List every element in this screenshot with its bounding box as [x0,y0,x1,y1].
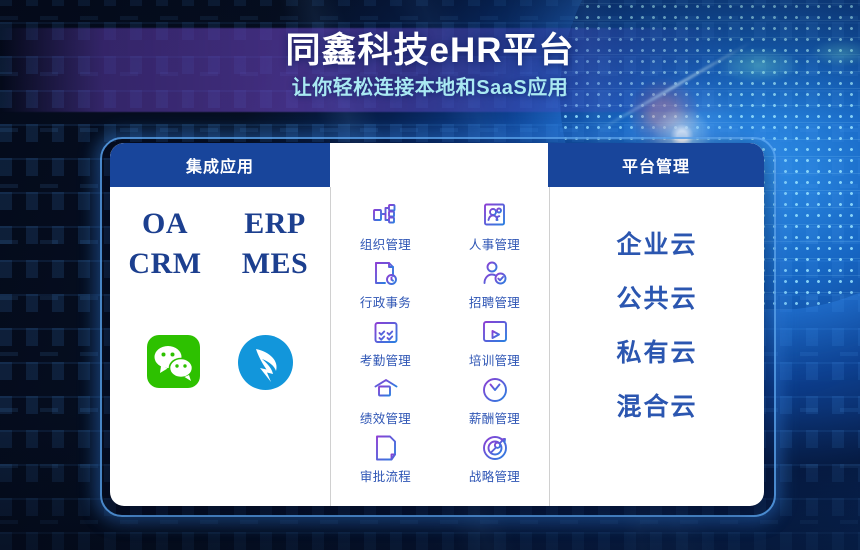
module-label: 战略管理 [469,466,520,485]
app-icon-row [110,335,330,390]
app-item-erp[interactable]: ERP [220,207,330,241]
module-label: 人事管理 [469,234,520,253]
module-recruitment-management[interactable]: 招聘管理 [440,259,549,311]
app-item-crm[interactable]: CRM [110,247,220,281]
approval-document-icon [371,433,401,463]
tab-platform-management[interactable]: 平台管理 [548,143,764,187]
app-text-grid: OA ERP CRM MES [110,207,330,281]
integrated-apps-panel: OA ERP CRM MES [110,187,330,506]
strategy-compass-icon [480,433,510,463]
module-approval-process[interactable]: 审批流程 [331,433,440,485]
card-body: OA ERP CRM MES [110,187,764,506]
page-root: 同鑫科技eHR平台 让你轻松连接本地和SaaS应用 集成应用 平台管理 OA E… [0,0,860,550]
module-attendance-management[interactable]: 考勤管理 [331,317,440,369]
cloud-item-public[interactable]: 公共云 [616,279,697,315]
recruitment-icon [480,259,510,289]
module-label: 培训管理 [469,350,520,369]
tab-spacer [330,143,548,187]
main-card: 集成应用 平台管理 OA ERP CRM MES [110,143,764,506]
performance-icon [371,375,401,405]
org-chart-icon [371,201,401,231]
module-training-management[interactable]: 培训管理 [440,317,549,369]
attendance-calendar-icon [371,317,401,347]
module-performance-management[interactable]: 绩效管理 [331,375,440,427]
module-label: 行政事务 [360,292,411,311]
module-label: 考勤管理 [360,350,411,369]
module-label: 招聘管理 [469,292,520,311]
training-play-icon [480,317,510,347]
hr-modules-panel: 组织管理 人事管理 [330,187,550,506]
module-strategy-management[interactable]: 战略管理 [440,433,549,485]
page-subtitle: 让你轻松连接本地和SaaS应用 [0,74,860,102]
module-label: 薪酬管理 [469,408,520,427]
cloud-item-private[interactable]: 私有云 [616,333,697,369]
tab-integrated-apps[interactable]: 集成应用 [110,143,330,187]
module-salary-management[interactable]: 薪酬管理 [440,375,549,427]
admin-affairs-icon [371,259,401,289]
page-title: 同鑫科技eHR平台 [0,28,860,74]
module-personnel-management[interactable]: 人事管理 [440,201,549,253]
app-item-oa[interactable]: OA [110,207,220,241]
page-header: 同鑫科技eHR平台 让你轻松连接本地和SaaS应用 [0,28,860,102]
module-label: 组织管理 [360,234,411,253]
salary-yen-icon [480,375,510,405]
platform-management-panel: 企业云 公共云 私有云 混合云 [550,187,764,506]
modules-grid: 组织管理 人事管理 [331,201,549,485]
tab-bar: 集成应用 平台管理 [110,143,764,187]
module-admin-affairs[interactable]: 行政事务 [331,259,440,311]
dingtalk-icon[interactable] [238,335,293,390]
app-item-mes[interactable]: MES [220,247,330,281]
cloud-item-hybrid[interactable]: 混合云 [616,387,697,423]
wechat-icon[interactable] [147,335,200,388]
module-label: 审批流程 [360,466,411,485]
cloud-list: 企业云 公共云 私有云 混合云 [550,225,764,423]
personnel-icon [480,201,510,231]
module-label: 绩效管理 [360,408,411,427]
module-org-management[interactable]: 组织管理 [331,201,440,253]
cloud-item-enterprise[interactable]: 企业云 [616,225,697,261]
